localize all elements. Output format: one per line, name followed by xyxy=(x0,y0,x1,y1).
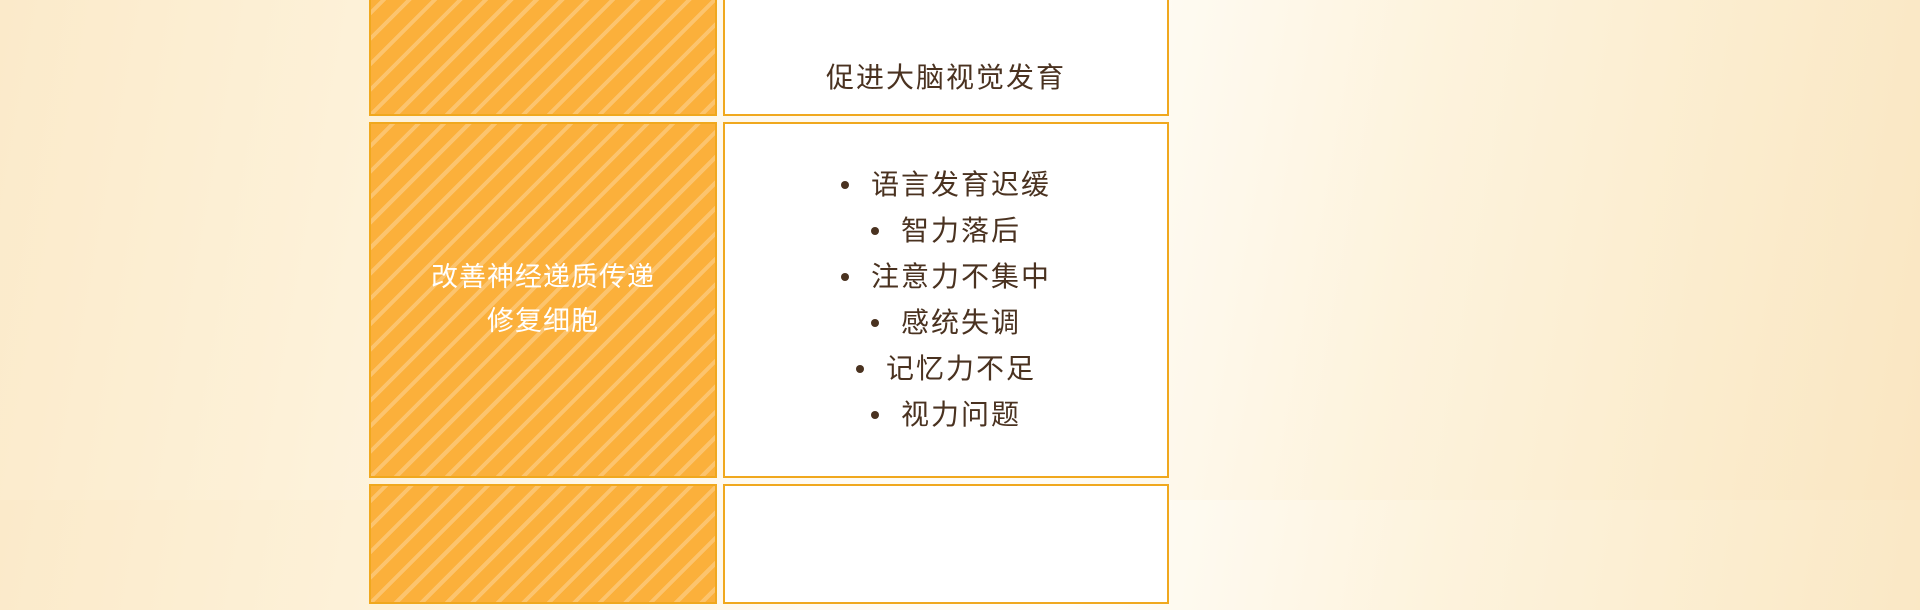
bullet-icon xyxy=(841,273,849,281)
bullet-icon xyxy=(871,319,879,327)
comparison-table: 促进大脑视觉发育 改善神经递质传递 修复细胞 语言发育迟缓 智力落后 xyxy=(369,0,1169,610)
bullet-icon xyxy=(871,227,879,235)
list-item: 感统失调 xyxy=(871,300,1021,346)
row-main-item-2: 注意力不集中 xyxy=(871,263,1051,291)
row-next-left-cell xyxy=(369,484,717,604)
row-main-item-4: 记忆力不足 xyxy=(886,355,1036,383)
row-previous-left-cell xyxy=(369,0,717,116)
list-item: 记忆力不足 xyxy=(856,346,1036,392)
row-main-item-0: 语言发育迟缓 xyxy=(871,171,1051,199)
row-main-left-cell: 改善神经递质传递 修复细胞 xyxy=(369,122,717,478)
table-row: 改善神经递质传递 修复细胞 语言发育迟缓 智力落后 注意力不集中 xyxy=(369,122,1169,478)
bullet-icon xyxy=(856,365,864,373)
row-main-item-5: 视力问题 xyxy=(901,401,1021,429)
row-main-left-label-line-2: 修复细胞 xyxy=(431,300,655,344)
row-main-item-3: 感统失调 xyxy=(901,309,1021,337)
row-main-left-label-line-1: 改善神经递质传递 xyxy=(431,256,655,300)
row-previous-right-cell: 促进大脑视觉发育 xyxy=(723,0,1169,116)
row-previous-item-0: 促进大脑视觉发育 xyxy=(826,56,1066,100)
row-main-right-cell: 语言发育迟缓 智力落后 注意力不集中 感统失调 记忆力不足 xyxy=(723,122,1169,478)
bullet-icon xyxy=(841,181,849,189)
row-main-left-label: 改善神经递质传递 修复细胞 xyxy=(431,256,655,343)
list-item: 智力落后 xyxy=(871,208,1021,254)
table-row: 促进大脑视觉发育 xyxy=(369,0,1169,116)
bullet-icon xyxy=(871,411,879,419)
list-item: 语言发育迟缓 xyxy=(841,162,1051,208)
row-main-item-1: 智力落后 xyxy=(901,217,1021,245)
row-next-right-cell xyxy=(723,484,1169,604)
slide-canvas: 促进大脑视觉发育 改善神经递质传递 修复细胞 语言发育迟缓 智力落后 xyxy=(0,0,1920,500)
list-item: 注意力不集中 xyxy=(841,254,1051,300)
table-row xyxy=(369,484,1169,604)
list-item: 视力问题 xyxy=(871,392,1021,438)
